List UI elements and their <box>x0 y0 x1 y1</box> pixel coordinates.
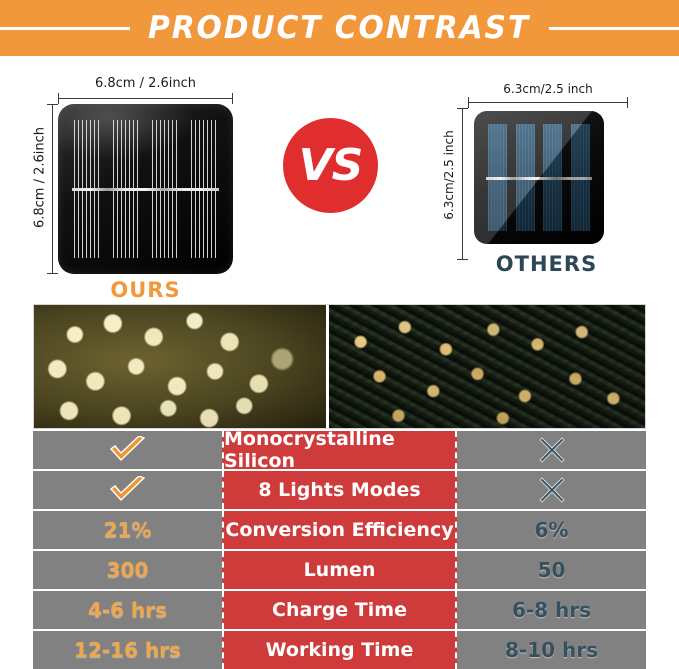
feature-label: 8 Lights Modes <box>222 471 457 509</box>
ours-value-cell: 12-16 hrs <box>33 631 222 669</box>
others-value-cell: 50 <box>457 551 646 589</box>
feature-label: Charge Time <box>222 591 457 629</box>
comparison-table: Monocrystalline Silicon 8 Lights Modes 2… <box>33 431 646 669</box>
check-icon <box>108 476 148 504</box>
ours-label: OURS <box>58 278 233 302</box>
others-height-dimension-line <box>462 108 463 260</box>
ours-height-dimension-line <box>52 104 53 274</box>
cross-icon <box>538 476 566 504</box>
feature-label: Working Time <box>222 631 457 669</box>
panel-comparison-section: 6.8cm / 2.6inch 6.8cm / 2.6inch OURS VS … <box>0 56 679 305</box>
table-row: 12-16 hrs Working Time 8-10 hrs <box>33 631 646 669</box>
table-row: 300 Lumen 50 <box>33 551 646 591</box>
others-value-cell <box>457 471 646 509</box>
others-height-dimension-label: 6.3cm/2.5 inch <box>442 110 456 240</box>
check-icon <box>108 436 148 464</box>
ours-height-dimension-label: 6.8cm / 2.6inch <box>33 108 48 248</box>
vs-label: VS <box>299 140 363 191</box>
others-value-cell <box>457 431 646 469</box>
ours-value-cell: 21% <box>33 511 222 549</box>
others-width-dimension-label: 6.3cm/2.5 inch <box>468 82 628 96</box>
poly-busbar <box>486 177 592 180</box>
ours-width-dimension-line <box>58 98 233 99</box>
product-photo-strip <box>33 304 646 429</box>
ours-value-cell: 4-6 hrs <box>33 591 222 629</box>
header-rule-left <box>0 27 130 30</box>
ours-value-cell <box>33 471 222 509</box>
header-banner: PRODUCT CONTRAST <box>0 0 679 56</box>
table-row: Monocrystalline Silicon <box>33 431 646 471</box>
others-width-dimension-line <box>468 102 628 103</box>
page-title: PRODUCT CONTRAST <box>139 10 540 46</box>
ours-value-cell: 300 <box>33 551 222 589</box>
table-row: 8 Lights Modes <box>33 471 646 511</box>
others-label: OTHERS <box>464 252 629 276</box>
cross-icon <box>538 436 566 464</box>
header-rule-right <box>549 27 679 30</box>
ours-panel-group: 6.8cm / 2.6inch 6.8cm / 2.6inch OURS <box>12 70 262 305</box>
others-lights-photo <box>329 305 645 428</box>
others-value-cell: 6% <box>457 511 646 549</box>
polycrystalline-panel-image <box>474 111 604 244</box>
others-value-cell: 8-10 hrs <box>457 631 646 669</box>
feature-label: Monocrystalline Silicon <box>222 431 457 469</box>
mono-busbar <box>72 188 219 191</box>
ours-width-dimension-label: 6.8cm / 2.6inch <box>58 76 233 91</box>
ours-value-cell <box>33 431 222 469</box>
others-value-cell: 6-8 hrs <box>457 591 646 629</box>
feature-label: Lumen <box>222 551 457 589</box>
feature-label: Conversion Efficiency <box>222 511 457 549</box>
others-panel-group: 6.3cm/2.5 inch 6.3cm/2.5 inch OTHERS <box>424 76 664 306</box>
monocrystalline-panel-image <box>58 104 233 274</box>
table-row: 4-6 hrs Charge Time 6-8 hrs <box>33 591 646 631</box>
table-row: 21% Conversion Efficiency 6% <box>33 511 646 551</box>
ours-lights-photo <box>34 305 326 428</box>
vs-badge: VS <box>283 118 378 213</box>
